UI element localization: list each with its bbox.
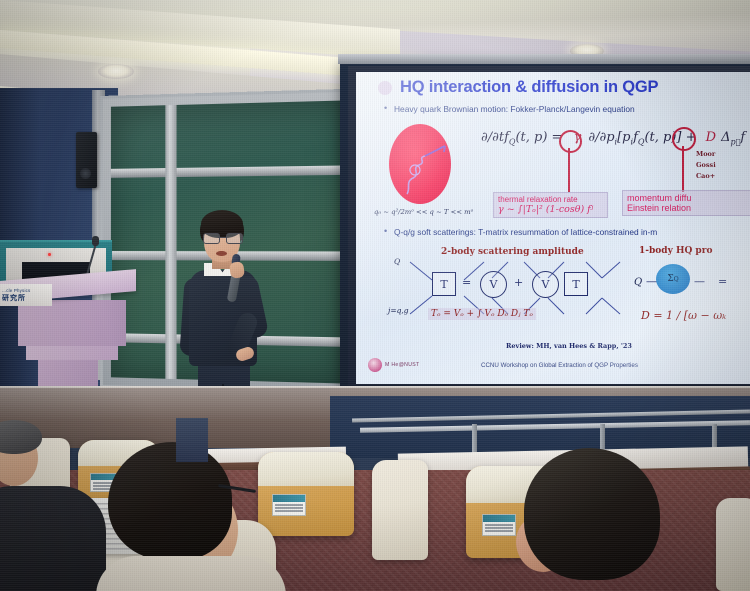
t-matrix-equation: Tₒ = Vₒ + ∫ Vₒ Dₒ Dⱼ Tₒ — [428, 308, 536, 320]
callout-right-line2: Einstein relation — [627, 203, 750, 213]
section-header-2body: 2-body scattering amplitude — [441, 247, 584, 257]
power-led-icon — [48, 253, 51, 256]
seat-tag-line — [485, 530, 513, 532]
seat[interactable] — [716, 498, 750, 591]
audience-shoulders — [96, 556, 286, 591]
slide-title: HQ interaction & diffusion in QGP — [400, 78, 658, 97]
eq-bigD: D — [701, 130, 721, 145]
callout-left-line2: γ ~ ∫|Tₒ|² (1-cosθ) fʲ — [498, 204, 603, 215]
seat[interactable] — [258, 452, 354, 536]
handrail-post — [472, 424, 477, 454]
slide-condition-text: q₀ ~ q²/2mᵒ << q ~ T << mᵒ — [374, 208, 473, 216]
glasses-bridge — [218, 237, 226, 238]
eq-dpi: ∂/∂p — [588, 130, 614, 145]
t-matrix-box-2: T — [564, 272, 588, 296]
section-header-1body: 1-body HQ pro — [639, 246, 712, 256]
seat-tag-line — [485, 524, 513, 526]
audience-hair — [108, 442, 232, 560]
seat-number-plate — [272, 494, 306, 516]
callout-right-line1: momentum diffu — [627, 193, 750, 203]
presenter-mouth — [216, 251, 227, 256]
slide-bullet-1: Heavy quark Brownian motion: Fokker-Plan… — [394, 104, 635, 114]
self-energy-blob: ΣQ — [656, 264, 690, 294]
seat-tag-line — [275, 504, 303, 506]
audience-shoulders — [0, 486, 106, 591]
t-matrix-box: T — [432, 272, 456, 296]
audience-member — [520, 448, 670, 591]
eq-fq-args: (t, p) — [515, 130, 547, 145]
seat-tag-line — [485, 527, 513, 529]
diagram-plus: + — [514, 276, 523, 289]
mic-head-icon — [92, 236, 99, 246]
audience-hair — [524, 448, 660, 580]
seat[interactable] — [372, 460, 428, 560]
eq-bracket: [p — [617, 130, 630, 145]
citation-moore: Moor — [696, 150, 715, 158]
podium-body — [18, 300, 126, 346]
momentum-diffusion-callout: momentum diffu Einstein relation — [622, 190, 750, 216]
brownian-path-icon — [401, 144, 461, 206]
slide-bullet-2: Q-q/g soft scatterings: T-matrix resumma… — [394, 227, 657, 237]
wall-speaker-icon — [76, 132, 97, 188]
sigma-subscript: Q — [674, 276, 679, 283]
eq-laplace-sub: p⃗ — [730, 138, 740, 147]
slide-review-citation: Review: MH, van Hees & Rapp, '23 — [506, 342, 632, 350]
gamma-highlight-ring — [559, 130, 582, 153]
slide-title-bullet-icon — [378, 81, 392, 95]
glasses-lens-right — [226, 233, 243, 244]
slide-footer: CCNU Workshop on Global Extraction of QG… — [481, 362, 638, 369]
diffusion-highlight-ring — [672, 127, 696, 151]
eq-tail: f — [740, 130, 745, 145]
selfenergy-equals: = — [718, 275, 727, 288]
fokker-planck-equation: ∂/∂tfQ(t, p) = γ∂/∂pi[pifQ(t, p)] + DΔp⃗… — [481, 130, 745, 147]
slide-logo-text: M He@NUST — [385, 362, 419, 368]
diagram-in-label-jqg: j=q,g — [388, 306, 409, 315]
lecture-hall-scene: HQ interaction & diffusion in QGP Heavy … — [0, 0, 750, 591]
presenter-glasses-icon — [203, 233, 241, 242]
citation-gossiaux: Gossi — [696, 161, 716, 169]
seat-headrest — [258, 452, 354, 486]
standing-person-legs — [176, 418, 208, 462]
selfenergy-q-label: Q — [634, 277, 642, 288]
seat-tag-bar — [273, 495, 305, 502]
diagram-equals: = — [462, 276, 471, 289]
diffusion-pointer-stem — [682, 146, 684, 192]
diagram-in-label-q: Q — [394, 257, 400, 266]
potential-circle-v2: V — [532, 271, 559, 298]
seat-tag-line — [275, 507, 303, 509]
seat-tag-line — [275, 510, 303, 512]
ceiling-downlight-icon — [98, 64, 134, 79]
slide-logo: M He@NUST — [368, 358, 419, 372]
chalkboard-rail — [111, 165, 349, 177]
presentation-slide: HQ interaction & diffusion in QGP Heavy … — [356, 72, 750, 384]
podium-sign-chinese: 研究所 — [2, 293, 52, 303]
chalkboard-post — [165, 105, 176, 379]
speaker-cone-icon — [80, 168, 91, 179]
seat-tag-bar — [483, 515, 515, 522]
selfenergy-dash-right: — — [694, 275, 705, 288]
thermal-relaxation-callout: thermal relaxation rate γ ~ ∫|Tₒ|² (1-co… — [493, 192, 608, 218]
citation-cao: Cao+ — [696, 172, 715, 180]
glasses-lens-left — [203, 233, 220, 244]
gamma-pointer-stem — [568, 148, 570, 192]
university-seal-icon — [368, 358, 382, 372]
podium-sign: ...cle Physics 研究所 — [0, 284, 52, 306]
propagator-equation: D = 1 / [ω − ωₖ — [638, 308, 729, 323]
eq-lhs: ∂/∂t — [481, 130, 504, 145]
callout-left-line1: thermal relaxation rate — [498, 195, 603, 204]
seat-number-plate — [482, 514, 516, 536]
screen-top-bar — [338, 54, 750, 64]
potential-circle-v: V — [480, 271, 507, 298]
